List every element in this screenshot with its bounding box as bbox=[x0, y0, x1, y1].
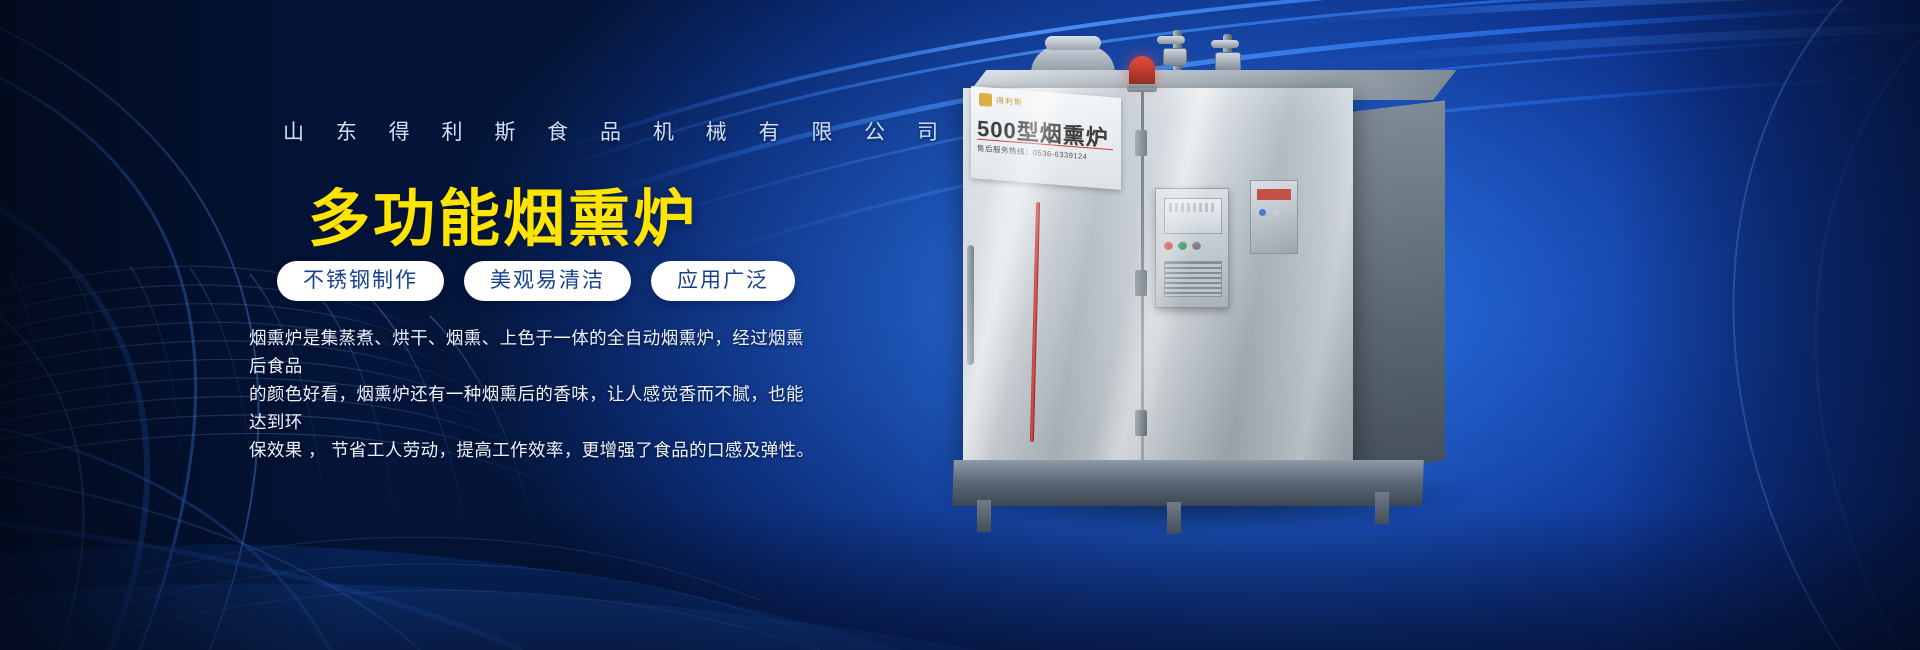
auxiliary-control-box bbox=[1250, 180, 1298, 254]
brand-logo-icon bbox=[979, 93, 992, 107]
control-panel-vent bbox=[1164, 261, 1222, 297]
machine-leg-right bbox=[1375, 492, 1389, 524]
company-name: 山 东 得 利 斯 食 品 机 械 有 限 公 司 bbox=[283, 116, 951, 146]
control-panel bbox=[1155, 188, 1229, 308]
alarm-beacon-icon bbox=[1129, 56, 1155, 86]
banner-headline: 多功能烟熏炉 bbox=[308, 168, 698, 258]
nameplate-brand: 得利斯 bbox=[979, 93, 1023, 109]
banner-text-content: 山 东 得 利 斯 食 品 机 械 有 限 公 司 多功能烟熏炉 不锈钢制作 美… bbox=[0, 0, 900, 650]
valve-body-right bbox=[1215, 52, 1241, 72]
product-banner: 山 东 得 利 斯 食 品 机 械 有 限 公 司 多功能烟熏炉 不锈钢制作 美… bbox=[0, 0, 1920, 650]
door-handle bbox=[967, 245, 974, 365]
alarm-beacon-base bbox=[1127, 84, 1157, 92]
brand-logo-text: 得利斯 bbox=[996, 95, 1023, 108]
valve-handwheel-left bbox=[1157, 36, 1185, 44]
panel-button-stop bbox=[1164, 241, 1173, 250]
machine-base-plinth bbox=[952, 460, 1424, 506]
valve-handwheel-right bbox=[1211, 40, 1239, 48]
feature-badge-easy-clean[interactable]: 美观易清洁 bbox=[464, 261, 631, 301]
door-hinge-bottom bbox=[1135, 410, 1147, 436]
panel-button-start bbox=[1178, 241, 1187, 250]
description-line-2: 的颜色好看，烟熏炉还有一种烟熏后的香味，让人感觉香而不腻，也能达到环 bbox=[249, 380, 817, 436]
machine-nameplate: 得利斯 500型烟熏炉 售后服务热线：0536-6339124 bbox=[971, 86, 1121, 190]
banner-description: 烟熏炉是集蒸煮、烘干、烟熏、上色于一体的全自动烟熏炉，经过烟熏后食品 的颜色好看… bbox=[249, 324, 817, 464]
machine-leg-left bbox=[977, 500, 991, 532]
feature-badge-stainless[interactable]: 不锈钢制作 bbox=[277, 261, 444, 301]
control-panel-buttons bbox=[1164, 241, 1201, 250]
auxiliary-indicator-blue bbox=[1259, 209, 1266, 216]
description-line-1: 烟熏炉是集蒸煮、烘干、烟熏、上色于一体的全自动烟熏炉，经过烟熏后食品 bbox=[249, 324, 817, 380]
control-panel-display bbox=[1164, 198, 1222, 234]
feature-badge-list: 不锈钢制作 美观易清洁 应用广泛 bbox=[277, 261, 795, 301]
auxiliary-box-label bbox=[1257, 189, 1291, 200]
exhaust-stack-cap bbox=[1045, 36, 1101, 50]
valve-body-left bbox=[1163, 48, 1187, 66]
auxiliary-indicator-grey bbox=[1273, 209, 1280, 216]
machine-leg-mid bbox=[1167, 502, 1181, 534]
panel-button-aux bbox=[1192, 241, 1201, 250]
description-line-3: 保效果 ， 节省工人劳动，提高工作效率，更增强了食品的口感及弹性。 bbox=[249, 436, 817, 464]
door-hinge-top bbox=[1135, 130, 1147, 156]
cabinet-side-face bbox=[1353, 100, 1445, 471]
door-hinge-middle bbox=[1135, 270, 1147, 296]
feature-badge-wide-application[interactable]: 应用广泛 bbox=[651, 261, 795, 301]
product-photo-smokehouse-oven: 得利斯 500型烟熏炉 售后服务热线：0536-6339124 bbox=[905, 30, 1545, 550]
